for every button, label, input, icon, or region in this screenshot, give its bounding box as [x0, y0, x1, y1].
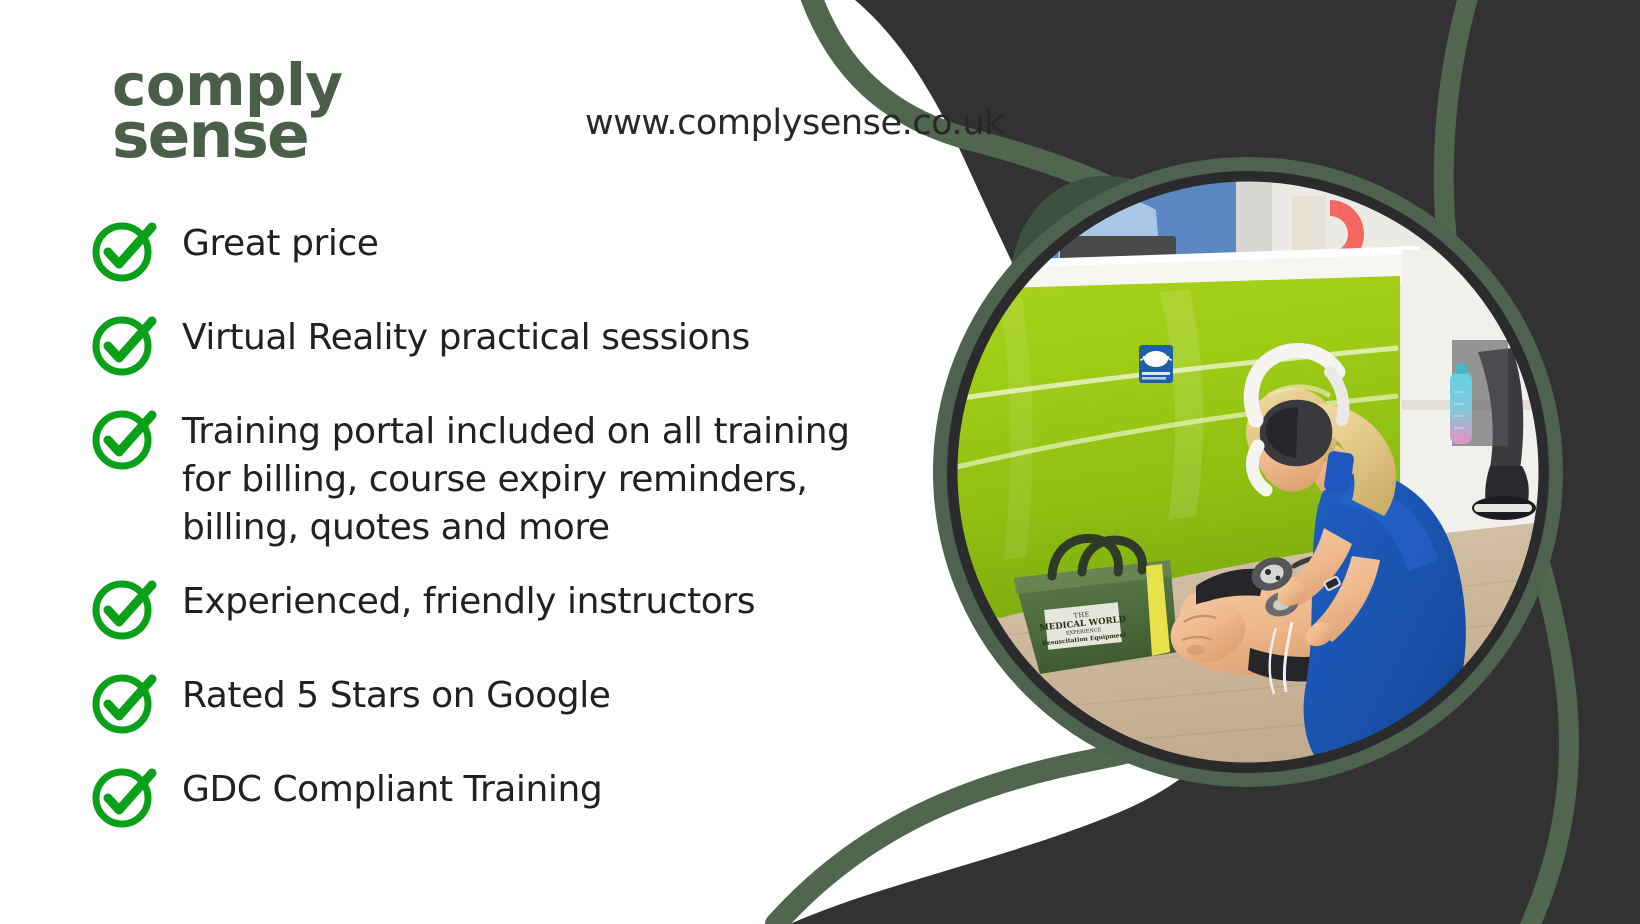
svg-text:EXPERIENCE: EXPERIENCE	[1066, 627, 1102, 637]
green-swoosh-right	[1444, 0, 1569, 924]
green-wall-panel	[940, 276, 1400, 620]
wood-floor	[940, 520, 1562, 790]
green-check-circle-icon	[88, 666, 160, 738]
cpr-manikin	[1163, 569, 1369, 694]
vr-headset-visor	[1260, 400, 1332, 466]
feature-label: Experienced, friendly instructors	[182, 570, 755, 626]
background-person-legs	[1452, 340, 1536, 520]
water-bottle	[1450, 364, 1472, 444]
bag-valve-mask	[1247, 552, 1330, 620]
green-check-circle-icon	[88, 214, 160, 286]
list-item: Rated 5 Stars on Google	[88, 664, 968, 738]
list-item: GDC Compliant Training	[88, 758, 968, 832]
green-check-circle-icon	[88, 760, 160, 832]
list-item: Virtual Reality practical sessions	[88, 306, 968, 380]
vr-headset-strap	[1251, 350, 1338, 420]
promo-banner: THE MEDICAL WORLD EXPERIENCE Resuscitati…	[0, 0, 1640, 924]
list-item: Experienced, friendly instructors	[88, 570, 968, 644]
instructor-figure	[1246, 350, 1466, 781]
svg-text:THE: THE	[1073, 610, 1090, 620]
photo-circle-outer-ring	[940, 164, 1556, 780]
photo-circle-inner-ring	[951, 175, 1545, 769]
brand-logo[interactable]: comply sense	[112, 62, 343, 161]
medical-equipment-bag: THE MEDICAL WORLD EXPERIENCE Resuscitati…	[1014, 538, 1178, 674]
feature-label: Training portal included on all training…	[182, 400, 850, 552]
website-url[interactable]: www.complysense.co.uk	[585, 103, 1004, 143]
green-check-circle-icon	[88, 572, 160, 644]
green-check-circle-icon	[88, 308, 160, 380]
feature-list: Great price Virtual Reality practical se…	[88, 212, 968, 852]
green-petal-lower-shape	[936, 264, 1175, 597]
svg-text:MEDICAL WORLD: MEDICAL WORLD	[1039, 614, 1127, 633]
svg-text:Resuscitation Equipment: Resuscitation Equipment	[1042, 631, 1127, 647]
list-item: Training portal included on all training…	[88, 400, 968, 552]
feature-label: Great price	[182, 212, 379, 268]
feature-label: GDC Compliant Training	[182, 758, 602, 814]
list-item: Great price	[88, 212, 968, 286]
training-photo: THE MEDICAL WORLD EXPERIENCE Resuscitati…	[940, 170, 1562, 790]
green-check-circle-icon	[88, 402, 160, 474]
green-petal-shape	[1009, 176, 1216, 320]
face-mask-sign	[1139, 345, 1173, 383]
feature-label: Virtual Reality practical sessions	[182, 306, 750, 362]
feature-label: Rated 5 Stars on Google	[182, 664, 611, 720]
